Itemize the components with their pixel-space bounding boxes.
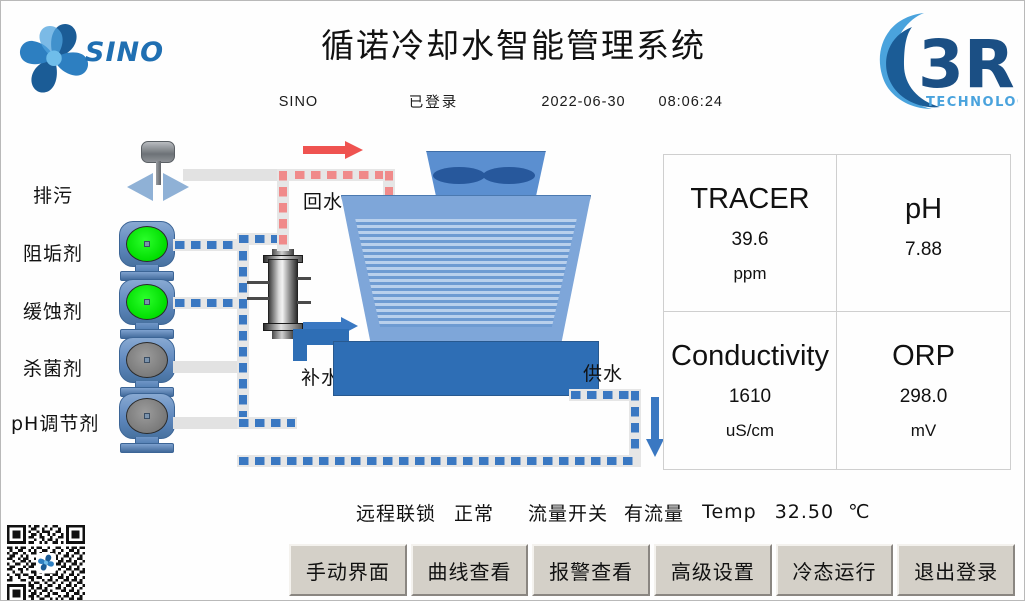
feed-flow-corrosion	[175, 299, 239, 307]
analyzer-vessel-icon[interactable]	[259, 249, 307, 339]
tracer-unit: ppm	[733, 264, 766, 284]
temperature-value: 32.50	[775, 501, 834, 523]
pipe-blowdown	[183, 169, 291, 181]
login-status: 已登录	[359, 91, 509, 112]
process-flow-diagram: 排污 阻垢剂 缓蚀剂 杀菌剂 pH调节剂	[1, 121, 661, 481]
pipe-biocide	[173, 361, 243, 373]
orp-name: ORP	[892, 340, 955, 373]
remote-interlock-label: 远程联锁	[356, 499, 436, 526]
label-ph-adjuster: pH调节剂	[11, 409, 99, 436]
supply-flow-bottom	[239, 457, 639, 465]
sidestream-flow-vertical	[239, 235, 247, 427]
ph-value: 7.88	[905, 239, 942, 261]
logged-user: SINO	[239, 94, 359, 110]
orp-unit: mV	[911, 421, 937, 441]
feed-flow-antiscalant	[175, 241, 239, 249]
tracer-value: 39.6	[732, 229, 769, 251]
hmi-screen: SINO 循诺冷却水智能管理系统 SINO 已登录 2022-06-30 08:…	[0, 0, 1025, 601]
trend-curve-button[interactable]: 曲线查看	[411, 544, 529, 596]
manual-screen-button[interactable]: 手动界面	[289, 544, 407, 596]
status-line: 远程联锁 正常 流量开关 有流量 Temp 32.50 ℃	[356, 498, 996, 526]
temperature-label: Temp	[702, 501, 757, 523]
svg-text:3R: 3R	[918, 26, 1015, 103]
measurement-cell-conductivity[interactable]: Conductivity 1610 uS/cm	[664, 312, 837, 469]
orp-value: 298.0	[900, 386, 948, 408]
temperature-unit: ℃	[848, 501, 870, 523]
measurement-cell-tracer[interactable]: TRACER 39.6 ppm	[664, 155, 837, 312]
label-biocide: 杀菌剂	[23, 354, 83, 381]
bottom-button-bar: 手动界面 曲线查看 报警查看 高级设置 冷态运行 退出登录	[289, 544, 1015, 596]
qr-code[interactable]	[7, 525, 85, 601]
pump-corrosion-inhibitor[interactable]	[114, 279, 180, 341]
system-time: 08:06:24	[659, 94, 789, 110]
supply-flow-right	[631, 391, 639, 465]
qr-center-logo	[36, 553, 56, 573]
pump-antiscalant[interactable]	[114, 221, 180, 283]
advanced-settings-button[interactable]: 高级设置	[654, 544, 772, 596]
conductivity-unit: uS/cm	[726, 421, 774, 441]
measurement-cell-ph[interactable]: pH 7.88	[837, 155, 1010, 312]
flow-switch-label: 流量开关	[528, 499, 608, 526]
return-flow-left	[279, 171, 287, 249]
pipe-ph-adjuster	[173, 417, 243, 429]
cooling-tower-icon	[331, 151, 631, 451]
label-corrosion-inhibitor: 缓蚀剂	[23, 297, 83, 324]
label-supply-water: 供水	[583, 359, 623, 386]
measurement-cell-orp[interactable]: ORP 298.0 mV	[837, 312, 1010, 469]
flow-switch-value: 有流量	[624, 499, 684, 526]
label-antiscalant: 阻垢剂	[23, 239, 83, 266]
3r-technology-logo: 3R TECHNOLOGY	[866, 3, 1018, 115]
conductivity-value: 1610	[729, 386, 771, 408]
sino-flower-icon-small	[36, 553, 56, 573]
ph-name: pH	[905, 193, 942, 226]
header-bar: SINO 循诺冷却水智能管理系统 SINO 已登录 2022-06-30 08:…	[1, 1, 1025, 121]
blowdown-valve-icon[interactable]	[125, 141, 191, 203]
alarm-view-button[interactable]: 报警查看	[532, 544, 650, 596]
remote-interlock-value: 正常	[454, 499, 494, 526]
sidestream-flow-bottom	[239, 419, 295, 427]
cold-start-button[interactable]: 冷态运行	[776, 544, 894, 596]
label-blowdown: 排污	[33, 181, 73, 208]
tracer-name: TRACER	[690, 183, 809, 216]
logout-button[interactable]: 退出登录	[897, 544, 1015, 596]
measurement-panel: TRACER 39.6 ppm pH 7.88 Conductivity 161…	[663, 154, 1011, 470]
svg-text:TECHNOLOGY: TECHNOLOGY	[926, 95, 1018, 110]
conductivity-name: Conductivity	[671, 340, 829, 373]
pump-biocide[interactable]	[114, 337, 180, 399]
system-date: 2022-06-30	[509, 94, 659, 110]
pump-ph-adjuster[interactable]	[114, 393, 180, 455]
